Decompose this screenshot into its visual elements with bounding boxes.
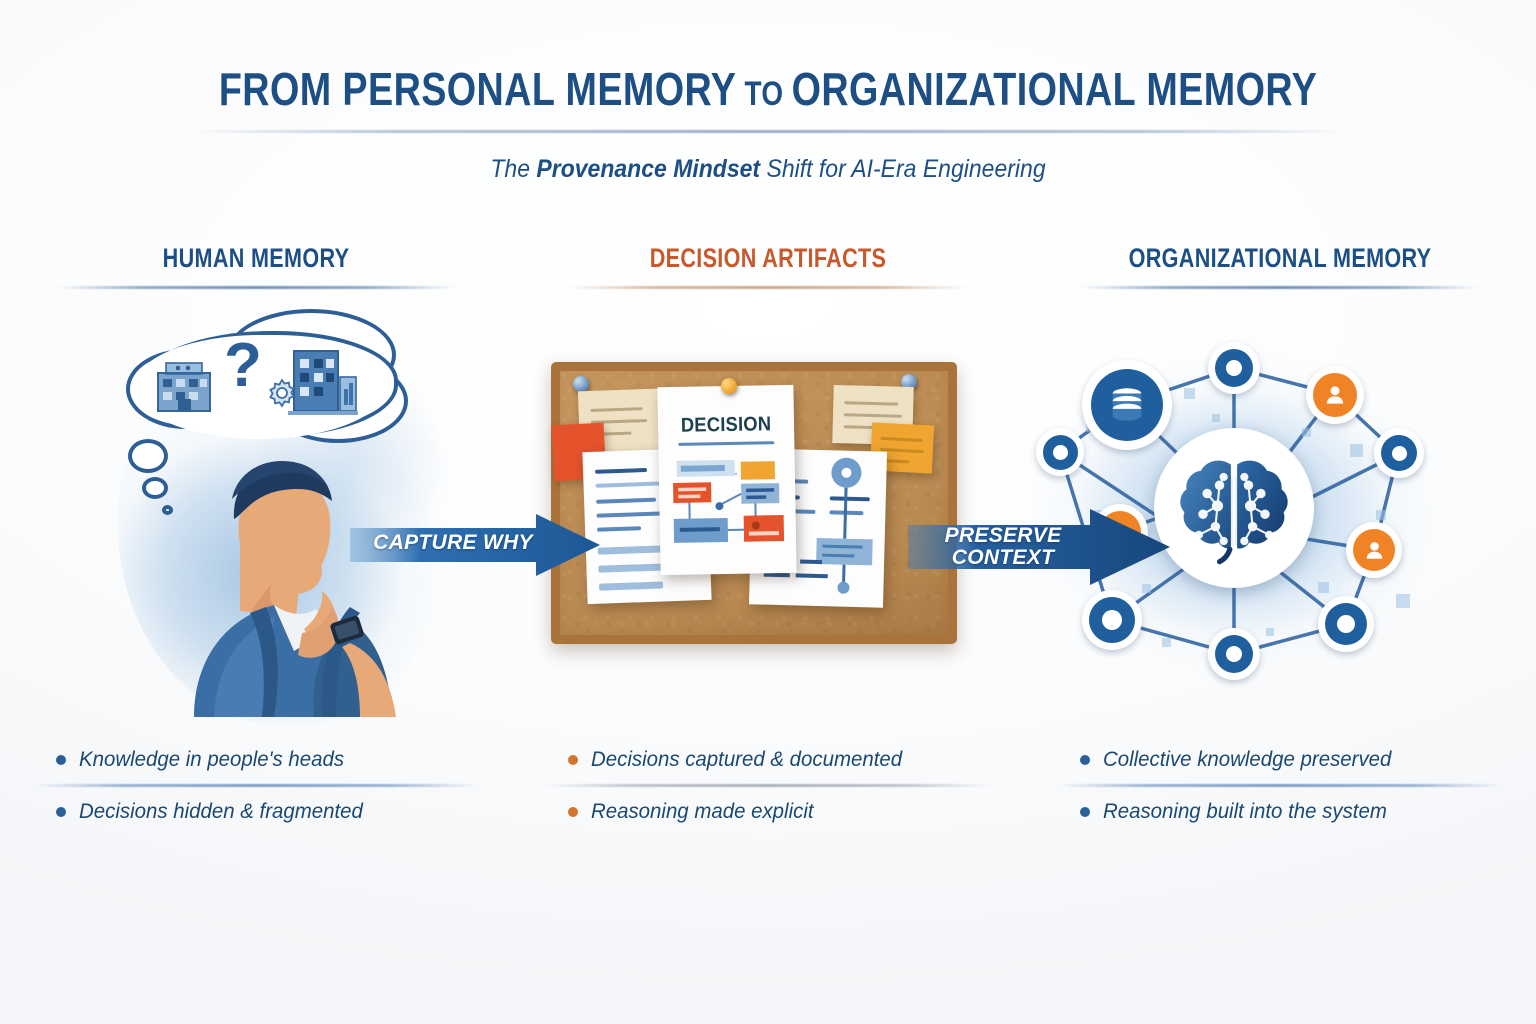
- bullets-decision-artifacts: Decisions captured & documented Reasonin…: [512, 735, 1024, 836]
- ring-node-bottom-right[interactable]: [1318, 596, 1374, 652]
- bullet-marker: [568, 807, 578, 817]
- title-connector: TO: [736, 75, 791, 113]
- bullet-text: Decisions captured & documented: [591, 747, 902, 772]
- arrow-label-line-1: PRESERVE: [922, 525, 1084, 547]
- bullet-summary-section: Knowledge in people's heads Decisions hi…: [0, 735, 1536, 836]
- bullet-text: Reasoning made explicit: [591, 799, 814, 824]
- bullet-item: Knowledge in people's heads: [34, 735, 478, 784]
- corkboard-illustration: DECISION: [551, 362, 957, 644]
- bullet-item: Reasoning built into the system: [1058, 787, 1502, 836]
- ring-node-far-left[interactable]: [1036, 428, 1084, 476]
- bullet-marker: [56, 755, 66, 765]
- heading-decision-artifacts: DECISION ARTIFACTS: [563, 243, 973, 274]
- bullet-text: Reasoning built into the system: [1103, 799, 1387, 824]
- decision-flowchart: [658, 449, 796, 571]
- bullets-organizational-memory: Collective knowledge preserved Reasoning…: [1024, 735, 1536, 836]
- subtitle-emphasis: Provenance Mindset: [536, 155, 760, 183]
- bullet-marker: [1080, 755, 1090, 765]
- bullet-item: Decisions hidden & fragmented: [34, 787, 478, 836]
- decision-document: DECISION: [657, 385, 796, 575]
- title-divider: [188, 130, 1348, 133]
- heading-divider-human: [56, 286, 455, 289]
- bullet-item: Decisions captured & documented: [546, 735, 990, 784]
- bullet-text: Collective knowledge preserved: [1103, 747, 1391, 772]
- ring-node-bottom-left[interactable]: [1082, 590, 1142, 650]
- orange-pin-icon: [721, 378, 737, 394]
- arrow-label-line-2: CONTEXT: [922, 547, 1084, 569]
- user-icon: [1323, 383, 1347, 407]
- user-icon: [1363, 539, 1386, 562]
- bullet-marker: [568, 755, 578, 765]
- bullet-separator: [34, 784, 478, 787]
- blue-pin-icon-left: [573, 376, 589, 392]
- arrow-capture-why: CAPTURE WHY: [350, 512, 600, 578]
- office-building-icon: [152, 359, 216, 413]
- database-icon: [1106, 384, 1148, 426]
- ring-node-bottom[interactable]: [1208, 628, 1260, 680]
- bullet-text: Knowledge in people's heads: [79, 747, 344, 772]
- ring-node-top[interactable]: [1208, 342, 1260, 394]
- page-title: FROM PERSONAL MEMORY TO ORGANIZATIONAL M…: [138, 62, 1398, 116]
- heading-divider-artifacts: [568, 286, 967, 289]
- subtitle-suffix: Shift for AI-Era Engineering: [760, 155, 1046, 183]
- decision-document-title: DECISION: [663, 413, 789, 438]
- brain-circuit-icon: [1172, 446, 1296, 570]
- page-subtitle: The Provenance Mindset Shift for AI-Era …: [61, 155, 1474, 184]
- bullet-marker: [56, 807, 66, 817]
- gear-icon: [264, 377, 300, 413]
- arrow-label-capture-why: CAPTURE WHY: [368, 532, 538, 554]
- bullets-human-memory: Knowledge in people's heads Decisions hi…: [0, 735, 512, 836]
- central-brain-node[interactable]: [1154, 428, 1314, 588]
- bullet-marker: [1080, 807, 1090, 817]
- page-header: FROM PERSONAL MEMORY TO ORGANIZATIONAL M…: [0, 0, 1536, 184]
- bullet-text: Decisions hidden & fragmented: [79, 799, 363, 824]
- title-part-1: FROM PERSONAL MEMORY: [219, 63, 736, 115]
- title-part-2: ORGANIZATIONAL MEMORY: [792, 63, 1317, 115]
- bullet-item: Collective knowledge preserved: [1058, 735, 1502, 784]
- user-node-top-right[interactable]: [1306, 366, 1364, 424]
- user-node-bottom-right[interactable]: [1346, 522, 1402, 578]
- bullet-item: Reasoning made explicit: [546, 787, 990, 836]
- bullet-separator: [1058, 784, 1502, 787]
- arrow-preserve-context: PRESERVE CONTEXT: [908, 505, 1170, 589]
- ring-node-right[interactable]: [1374, 428, 1424, 478]
- arrow-label-preserve-context: PRESERVE CONTEXT: [922, 525, 1084, 569]
- subtitle-prefix: The: [490, 155, 536, 183]
- bullet-separator: [546, 784, 990, 787]
- person-figure: [154, 447, 430, 717]
- heading-human-memory: HUMAN MEMORY: [51, 243, 461, 274]
- heading-organizational-memory: ORGANIZATIONAL MEMORY: [1075, 243, 1485, 274]
- question-mark-icon: ?: [224, 335, 262, 397]
- heading-divider-org: [1080, 286, 1479, 289]
- database-node[interactable]: [1082, 360, 1172, 450]
